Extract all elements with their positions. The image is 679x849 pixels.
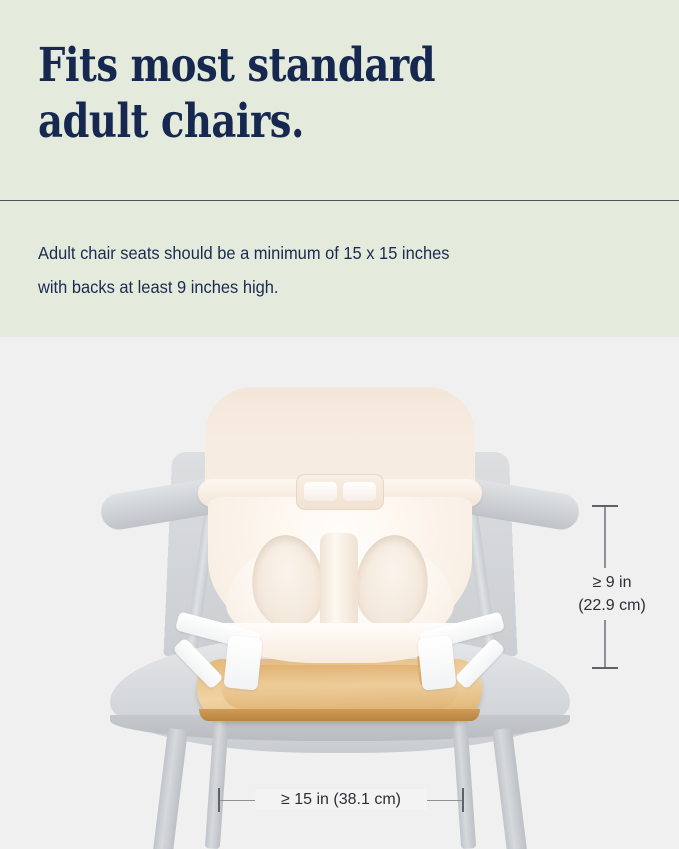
header-divider [0, 200, 679, 201]
wood-base-edge [199, 709, 480, 721]
chair-leg-front-left [153, 728, 188, 849]
harness-buckle-pad-right [343, 482, 376, 501]
horizontal-dimension-tick-right [462, 788, 464, 812]
header-subcopy: Adult chair seats should be a minimum of… [38, 236, 583, 304]
vertical-dimension-tick-bottom [592, 667, 618, 669]
strap-center-left [223, 635, 262, 690]
harness-buckle-pad-left [304, 482, 337, 501]
horizontal-dimension-label: ≥ 15 in (38.1 cm) [255, 789, 427, 810]
vertical-dimension-label: ≥ 9 in (22.9 cm) [548, 568, 676, 620]
product-info-card: Fits most standard adult chairs. Adult c… [0, 0, 679, 849]
page-title: Fits most standard adult chairs. [38, 38, 530, 150]
vertical-dimension-tick-top [592, 505, 618, 507]
chair-leg-front-right [492, 728, 527, 849]
horizontal-dimension-tick-left [218, 788, 220, 812]
strap-center-right [417, 635, 456, 690]
header-panel: Fits most standard adult chairs. Adult c… [0, 0, 679, 337]
